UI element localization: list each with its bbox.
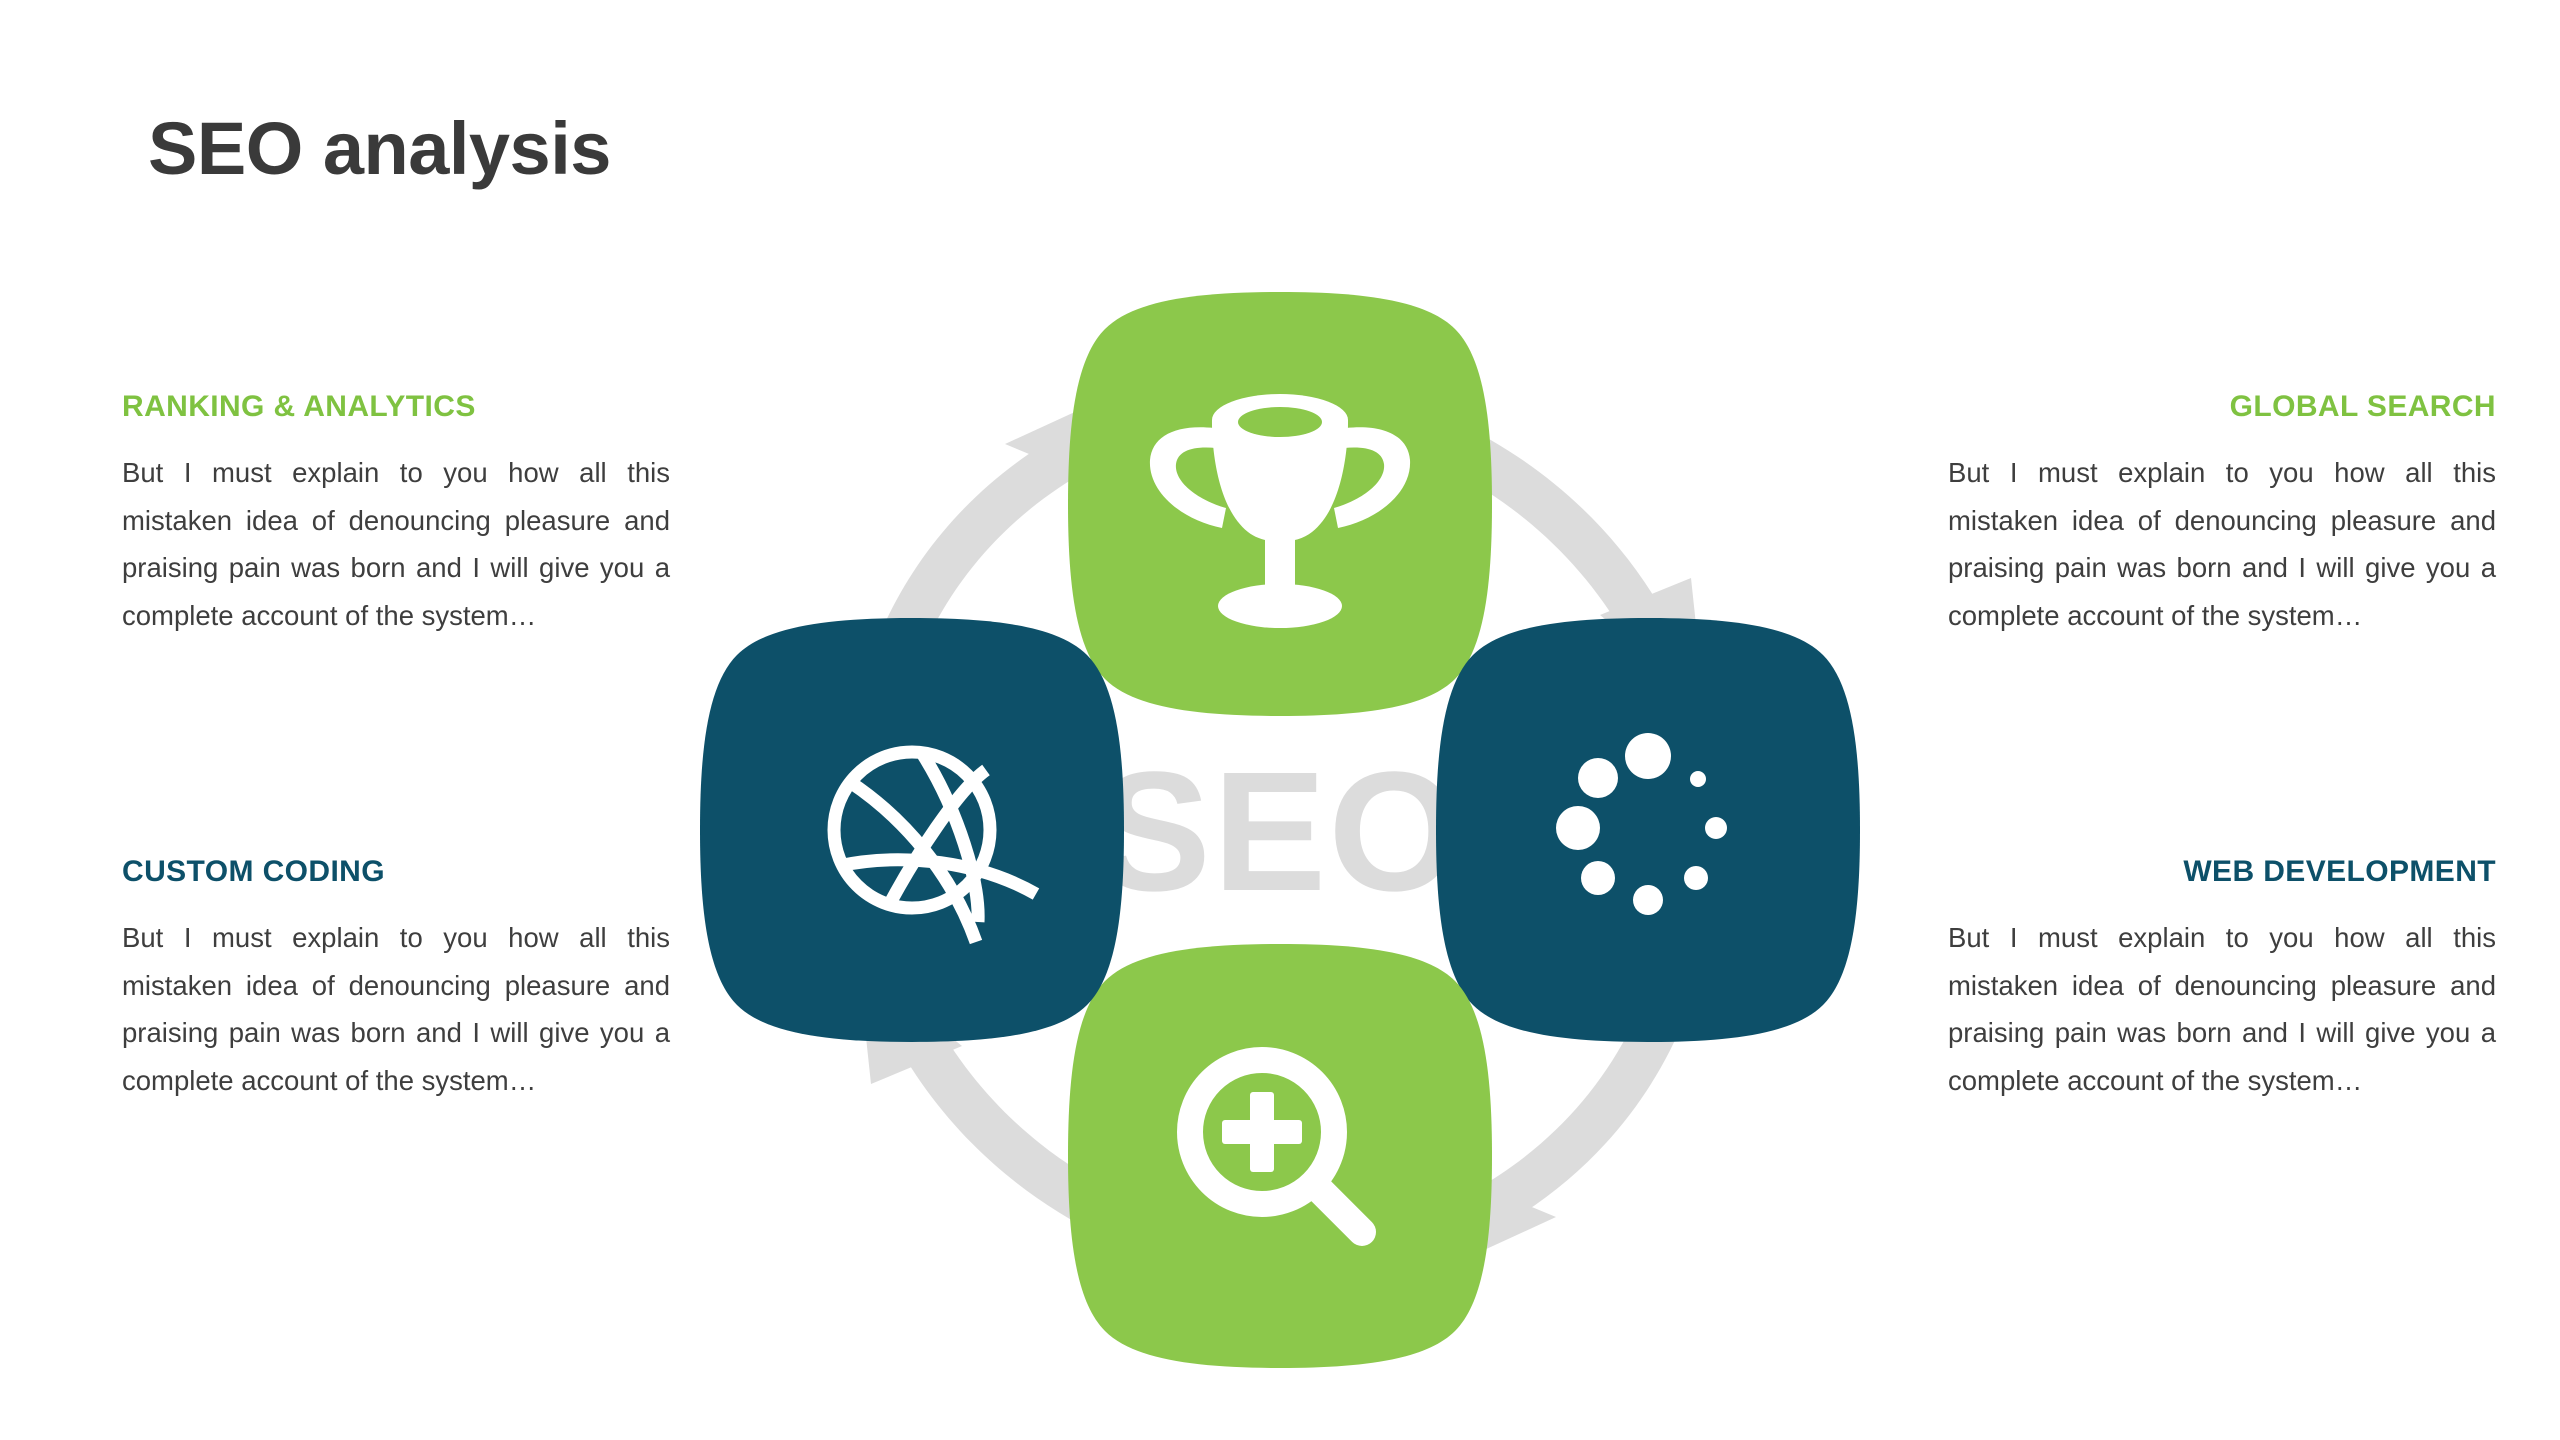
section-web-development: WEB DEVELOPMENT But I must explain to yo… bbox=[1948, 855, 2496, 1104]
section-heading-ranking-analytics: RANKING & ANALYTICS bbox=[122, 390, 670, 423]
section-heading-custom-coding: CUSTOM CODING bbox=[122, 855, 670, 888]
node-bottom-search[interactable] bbox=[1068, 944, 1492, 1368]
section-body-web-development: But I must explain to you how all this m… bbox=[1948, 914, 2496, 1104]
section-body-custom-coding: But I must explain to you how all this m… bbox=[122, 914, 670, 1104]
section-heading-web-development: WEB DEVELOPMENT bbox=[1948, 855, 2496, 888]
node-left-dribbble[interactable] bbox=[700, 618, 1124, 1042]
section-custom-coding: CUSTOM CODING But I must explain to you … bbox=[122, 855, 670, 1104]
section-body-ranking-analytics: But I must explain to you how all this m… bbox=[122, 449, 670, 639]
node-right-blob bbox=[1436, 618, 1860, 1042]
node-bottom-blob bbox=[1068, 944, 1492, 1368]
node-top-trophy[interactable] bbox=[1068, 292, 1492, 716]
page-title: SEO analysis bbox=[148, 106, 611, 191]
section-ranking-analytics: RANKING & ANALYTICS But I must explain t… bbox=[122, 390, 670, 639]
section-global-search: GLOBAL SEARCH But I must explain to you … bbox=[1948, 390, 2496, 639]
node-right-spinner[interactable] bbox=[1436, 618, 1860, 1042]
section-heading-global-search: GLOBAL SEARCH bbox=[1948, 390, 2496, 423]
center-watermark-seo: SEO bbox=[1097, 737, 1462, 927]
section-body-global-search: But I must explain to you how all this m… bbox=[1948, 449, 2496, 639]
seo-cycle-diagram: SEO bbox=[690, 270, 1870, 1390]
